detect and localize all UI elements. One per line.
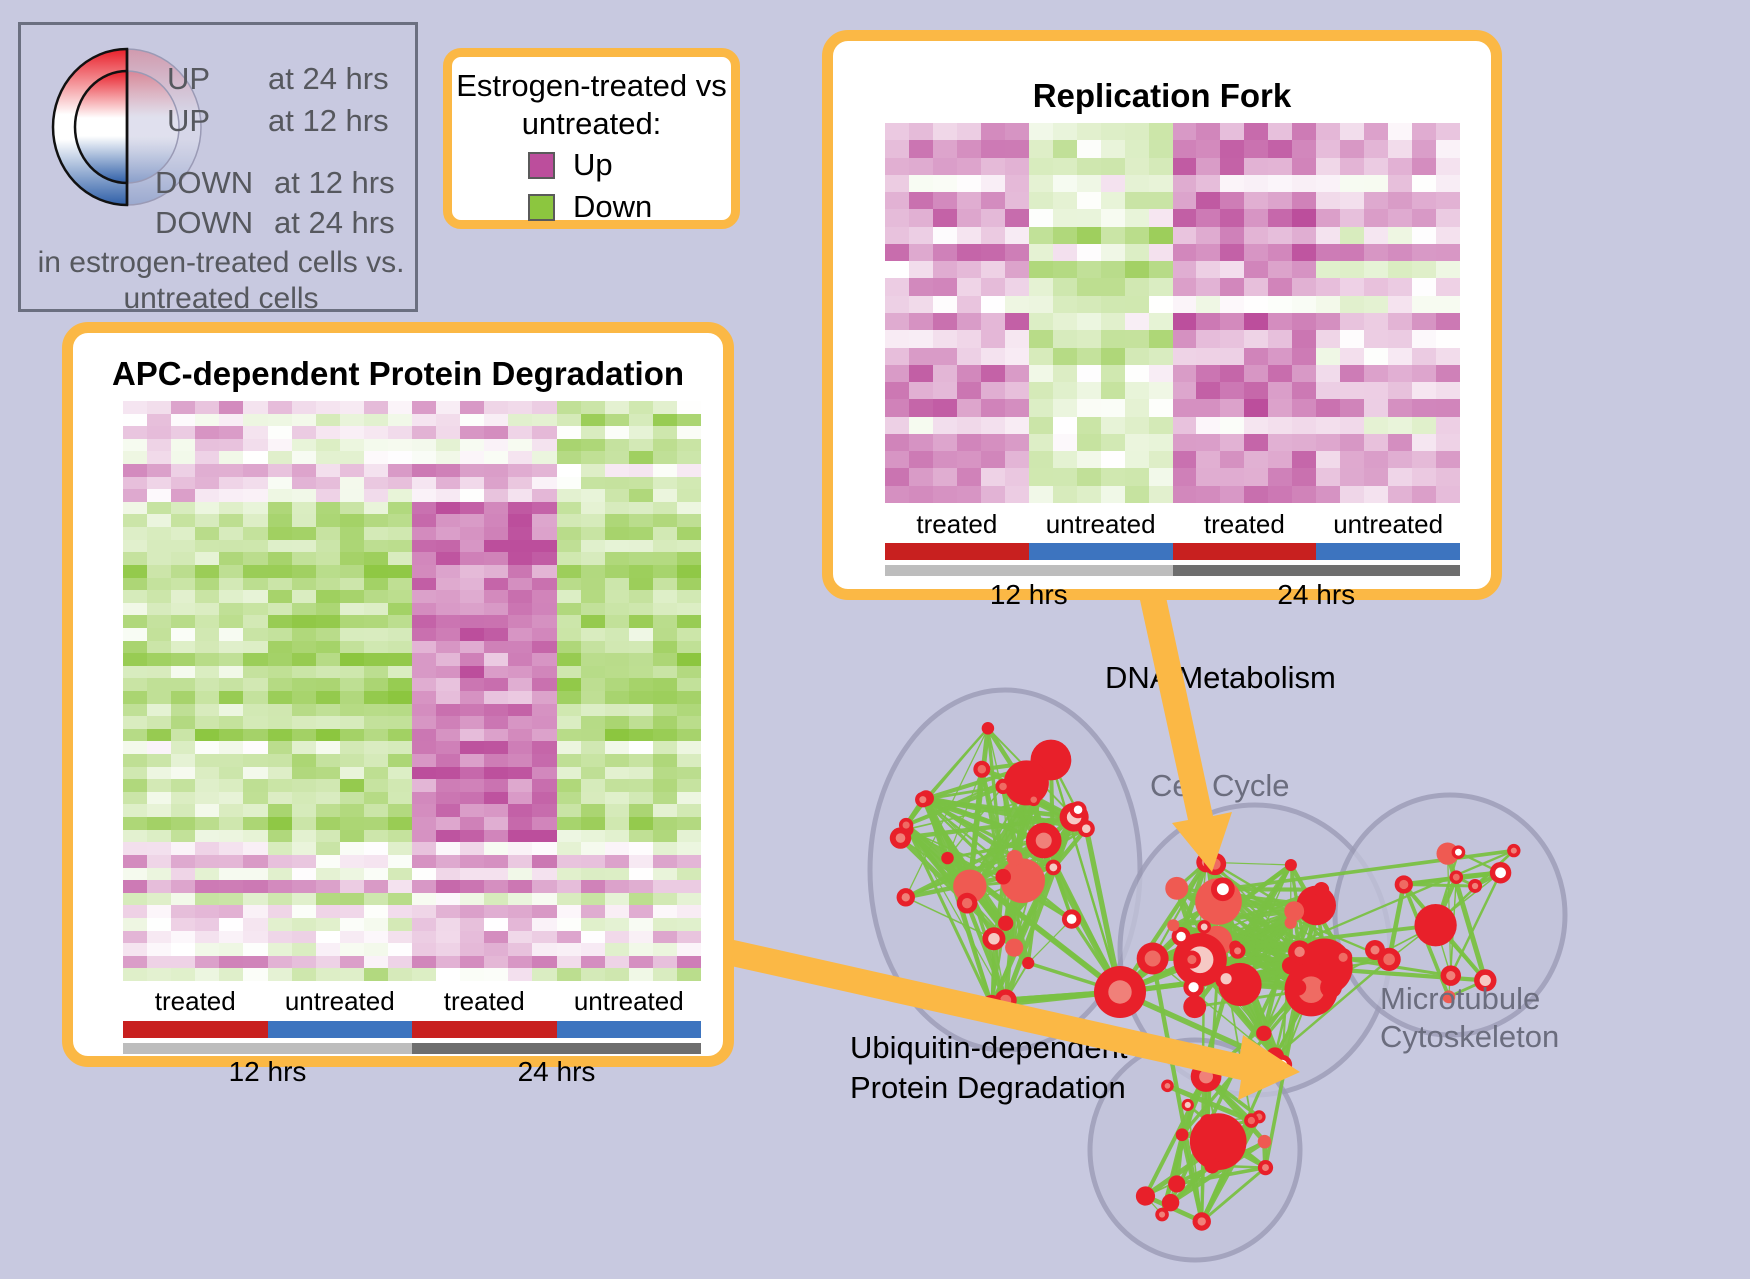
heatmap-cell <box>1149 417 1173 434</box>
heatmap-cell <box>1388 434 1412 451</box>
heatmap-cell <box>171 464 195 477</box>
heatmap-cell <box>1316 382 1340 399</box>
heatmap-cell <box>171 653 195 666</box>
heatmap-cell <box>1220 158 1244 175</box>
heatmap-cell <box>933 451 957 468</box>
heatmap-cell <box>885 123 909 140</box>
heatmap-cell <box>629 451 653 464</box>
heatmap-cell <box>557 653 581 666</box>
heatmap-cell <box>1388 244 1412 261</box>
heatmap-cell <box>1412 451 1436 468</box>
heatmap-cell <box>364 754 388 767</box>
timepoint-label: 24 hrs <box>1173 579 1461 611</box>
heatmap-cell <box>195 641 219 654</box>
heatmap-cell <box>171 691 195 704</box>
heatmap-cell <box>933 486 957 503</box>
heatmap-cell <box>436 628 460 641</box>
heatmap-cell <box>388 855 412 868</box>
heatmap-cell <box>933 468 957 485</box>
heatmap-cell <box>933 175 957 192</box>
heatmap-cell <box>1340 417 1364 434</box>
heatmap-cell <box>653 868 677 881</box>
heatmap-cell <box>219 489 243 502</box>
heatmap-cell <box>195 918 219 931</box>
heatmap-cell <box>909 278 933 295</box>
heatmap-cell <box>933 278 957 295</box>
heatmap-cell <box>292 855 316 868</box>
heatmap-cell <box>1149 382 1173 399</box>
heatmap-cell <box>1173 192 1197 209</box>
heatmap-cell <box>957 192 981 209</box>
heatmap-cell <box>484 540 508 553</box>
heatmap-cell <box>340 830 364 843</box>
heatmap-cell <box>292 653 316 666</box>
heatmap-cell <box>1220 468 1244 485</box>
heatmap-cell <box>460 716 484 729</box>
heatmap-cell <box>171 779 195 792</box>
heatmap-cell <box>933 192 957 209</box>
heatmap-cell <box>1101 209 1125 226</box>
heatmap-cell <box>581 943 605 956</box>
heatmap-cell <box>532 414 556 427</box>
heatmap-cell <box>219 615 243 628</box>
heatmap-cell <box>195 401 219 414</box>
heatmap-cell <box>364 514 388 527</box>
heatmap-cell <box>557 514 581 527</box>
heatmap-cell <box>653 414 677 427</box>
heatmap-cell <box>1316 227 1340 244</box>
heatmap-cell <box>885 434 909 451</box>
heatmap-cell <box>316 754 340 767</box>
heatmap-cell <box>957 468 981 485</box>
heatmap-cell <box>532 956 556 969</box>
heatmap-cell <box>605 792 629 805</box>
heatmap-cell <box>629 477 653 490</box>
heatmap-cell <box>605 754 629 767</box>
heatmap-cell <box>123 729 147 742</box>
heatmap-cell <box>364 439 388 452</box>
heatmap-cell <box>1340 227 1364 244</box>
heatmap-cell <box>292 741 316 754</box>
heatmap-cell <box>557 943 581 956</box>
heatmap-cell <box>171 578 195 591</box>
heatmap-cell <box>653 451 677 464</box>
heatmap-cell <box>581 401 605 414</box>
heatmap-cell <box>605 741 629 754</box>
heatmap-cell <box>933 399 957 416</box>
heatmap-cell <box>581 968 605 981</box>
heatmap-cell <box>123 931 147 944</box>
heatmap-cell <box>195 880 219 893</box>
heatmap-cell <box>532 451 556 464</box>
heatmap-cell <box>147 704 171 717</box>
heatmap-cell <box>1292 192 1316 209</box>
heatmap-cell <box>981 192 1005 209</box>
heatmap-cell <box>412 439 436 452</box>
heatmap-cell <box>460 527 484 540</box>
heatmap-cell <box>171 678 195 691</box>
heatmap-cell <box>557 527 581 540</box>
heatmap-cell <box>195 767 219 780</box>
heatmap-cell <box>1053 158 1077 175</box>
heatmap-cell <box>219 704 243 717</box>
heatmap-cell <box>1292 158 1316 175</box>
heatmap-cell <box>484 817 508 830</box>
heatmap-cell <box>1220 175 1244 192</box>
heatmap-cell <box>388 451 412 464</box>
heatmap-cell <box>677 451 701 464</box>
heatmap-cell <box>219 817 243 830</box>
heatmap-cell <box>532 741 556 754</box>
heatmap-cell <box>1316 434 1340 451</box>
heatmap-cell <box>885 227 909 244</box>
heatmap-cell <box>1029 123 1053 140</box>
heatmap-cell <box>581 931 605 944</box>
heatmap-cell <box>532 868 556 881</box>
heatmap-cell <box>1268 175 1292 192</box>
heatmap-cell <box>340 590 364 603</box>
heatmap-cell <box>316 401 340 414</box>
heatmap-cell <box>243 603 267 616</box>
heatmap-cell <box>557 767 581 780</box>
heatmap-cell <box>340 666 364 679</box>
heatmap-cell <box>1268 330 1292 347</box>
heatmap-cell <box>629 426 653 439</box>
heatmap-cell <box>557 905 581 918</box>
heatmap-cell <box>653 666 677 679</box>
heatmap-cell <box>364 401 388 414</box>
heatmap-cell <box>1292 434 1316 451</box>
heatmap-cell <box>484 527 508 540</box>
heatmap-cell <box>388 401 412 414</box>
heatmap-cell <box>1173 227 1197 244</box>
heatmap-cell <box>316 426 340 439</box>
heatmap-cell <box>1316 261 1340 278</box>
heatmap-cell <box>933 365 957 382</box>
heatmap-cell <box>364 527 388 540</box>
heatmap-cell <box>508 439 532 452</box>
heatmap-cell <box>1292 348 1316 365</box>
heatmap-cell <box>243 868 267 881</box>
heatmap-cell <box>364 716 388 729</box>
heatmap-cell <box>292 716 316 729</box>
heatmap-cell <box>1220 434 1244 451</box>
heatmap-cell <box>653 956 677 969</box>
heatmap-cell <box>436 590 460 603</box>
heatmap-cell <box>1316 123 1340 140</box>
heatmap-cell <box>1268 261 1292 278</box>
heatmap-cell <box>460 943 484 956</box>
heatmap-cell <box>460 893 484 906</box>
heatmap-cell <box>219 741 243 754</box>
heatmap-cell <box>557 678 581 691</box>
heatmap-cell <box>557 426 581 439</box>
heatmap-cell <box>653 603 677 616</box>
heatmap-cell <box>557 830 581 843</box>
heatmap-cell <box>1029 468 1053 485</box>
heatmap-cell <box>388 842 412 855</box>
heatmap-cell <box>340 956 364 969</box>
heatmap-cell <box>268 691 292 704</box>
heatmap-cell <box>147 628 171 641</box>
heatmap-cell <box>957 261 981 278</box>
heatmap-cell <box>316 943 340 956</box>
heatmap-cell <box>1077 158 1101 175</box>
heatmap-cell <box>677 868 701 881</box>
heatmap-cell <box>171 565 195 578</box>
heatmap-cell <box>1005 209 1029 226</box>
heatmap-cell <box>147 502 171 515</box>
heatmap-cell <box>436 729 460 742</box>
heatmap-cell <box>195 666 219 679</box>
heatmap-cell <box>171 792 195 805</box>
heatmap-cell <box>340 716 364 729</box>
heatmap-cell <box>957 140 981 157</box>
heatmap-cell <box>1412 140 1436 157</box>
heatmap-cell <box>243 792 267 805</box>
heatmap-cell <box>1005 158 1029 175</box>
heatmap-cell <box>557 779 581 792</box>
heatmap-cell <box>123 653 147 666</box>
heatmap-cell <box>1101 158 1125 175</box>
heatmap-cell <box>677 880 701 893</box>
heatmap-cell <box>123 426 147 439</box>
heatmap-cell <box>532 439 556 452</box>
heatmap-cell <box>1436 261 1460 278</box>
heatmap-cell <box>532 830 556 843</box>
heatmap-cell <box>629 540 653 553</box>
heatmap-cell <box>1196 486 1220 503</box>
heatmap-cell <box>460 489 484 502</box>
heatmap-cell <box>195 691 219 704</box>
timepoint-color-segment <box>885 565 1173 576</box>
heatmap-cell <box>1436 434 1460 451</box>
heatmap-cell <box>909 417 933 434</box>
heatmap-cell <box>957 158 981 175</box>
heatmap-cell <box>1029 244 1053 261</box>
heatmap-cell <box>532 477 556 490</box>
heatmap-cell <box>316 767 340 780</box>
heatmap-cell <box>388 905 412 918</box>
heatmap-cell <box>677 704 701 717</box>
heatmap-cell <box>1053 365 1077 382</box>
heatmap-cell <box>508 615 532 628</box>
heatmap-cell <box>653 704 677 717</box>
heatmap-cell <box>1388 451 1412 468</box>
heatmap-cell <box>484 767 508 780</box>
heatmap-cell <box>532 603 556 616</box>
heatmap-cell <box>388 804 412 817</box>
heatmap-cell <box>1149 278 1173 295</box>
heatmap-cell <box>605 817 629 830</box>
heatmap-cell <box>1244 123 1268 140</box>
heatmap-cell <box>653 804 677 817</box>
heatmap-cell <box>171 716 195 729</box>
heatmap-cell <box>1340 278 1364 295</box>
heatmap-cell <box>364 552 388 565</box>
heatmap-cell <box>292 968 316 981</box>
heatmap-cell <box>508 943 532 956</box>
condition-color-segment <box>1316 543 1460 560</box>
heatmap-cell <box>1053 192 1077 209</box>
heatmap-cell <box>629 401 653 414</box>
heatmap-cell <box>1149 451 1173 468</box>
heatmap-cell <box>557 968 581 981</box>
heatmap-cell <box>508 451 532 464</box>
heatmap-cell <box>243 514 267 527</box>
heatmap-cell <box>123 905 147 918</box>
heatmap-cell <box>1364 434 1388 451</box>
heatmap-cell <box>340 615 364 628</box>
heatmap-cell <box>933 348 957 365</box>
heatmap-cell <box>412 489 436 502</box>
heatmap-cell <box>1196 348 1220 365</box>
heatmap-cell <box>1388 209 1412 226</box>
heatmap-cell <box>147 741 171 754</box>
heatmap-cell <box>677 716 701 729</box>
heatmap-cell <box>1436 348 1460 365</box>
heatmap-cell <box>388 968 412 981</box>
heatmap-cell <box>1292 261 1316 278</box>
heatmap-cell <box>460 968 484 981</box>
heatmap-cell <box>147 653 171 666</box>
heatmap-cell <box>219 842 243 855</box>
heatmap-cell <box>412 817 436 830</box>
heatmap-cell <box>1364 486 1388 503</box>
heatmap-cell <box>532 615 556 628</box>
heatmap-cell <box>1149 348 1173 365</box>
heatmap-cell <box>316 540 340 553</box>
heatmap-cell <box>1268 158 1292 175</box>
heatmap-cell <box>557 868 581 881</box>
heatmap-cell <box>195 905 219 918</box>
heatmap-cell <box>1268 192 1292 209</box>
heatmap-cell <box>412 779 436 792</box>
heatmap-cell <box>981 365 1005 382</box>
heatmap-cell <box>508 678 532 691</box>
heatmap-cell <box>1268 227 1292 244</box>
heatmap-cell <box>1173 123 1197 140</box>
heatmap-cell <box>219 691 243 704</box>
heatmap-cell <box>364 451 388 464</box>
heatmap-cell <box>292 893 316 906</box>
heatmap-cell <box>171 830 195 843</box>
heatmap-cell <box>1053 209 1077 226</box>
cluster-label-ubiquitin-degradation: Ubiquitin-dependent Protein Degradation <box>850 1028 1128 1108</box>
heatmap-cell <box>532 943 556 956</box>
heatmap-cell <box>885 158 909 175</box>
heatmap-cell <box>1005 486 1029 503</box>
heatmap-cell <box>243 893 267 906</box>
heatmap-cell <box>484 439 508 452</box>
heatmap-cell <box>1220 399 1244 416</box>
heatmap-cell <box>171 477 195 490</box>
legend-down-at-24-label: at 24 hrs <box>274 205 395 241</box>
condition-label: treated <box>123 986 268 1017</box>
heatmap-cell <box>933 209 957 226</box>
heatmap-cell <box>219 754 243 767</box>
heatmap-cell <box>508 514 532 527</box>
heatmap-cell <box>1220 417 1244 434</box>
heatmap-cell <box>981 140 1005 157</box>
heatmap-cell <box>605 590 629 603</box>
heatmap-cell <box>484 615 508 628</box>
heatmap-cell <box>460 880 484 893</box>
heatmap-cell <box>1244 417 1268 434</box>
heatmap-cell <box>243 502 267 515</box>
heatmap-cell <box>605 804 629 817</box>
heatmap-cell <box>981 244 1005 261</box>
heatmap-cell <box>340 489 364 502</box>
heatmap-cell <box>1196 158 1220 175</box>
heatmap-cell <box>171 855 195 868</box>
heatmap-cell <box>1412 158 1436 175</box>
heatmap-cell <box>1053 382 1077 399</box>
heatmap-cell <box>340 779 364 792</box>
heatmap-cell <box>581 666 605 679</box>
heatmap-cell <box>412 880 436 893</box>
heatmap-cell <box>508 401 532 414</box>
heatmap-cell <box>412 477 436 490</box>
heatmap-cell <box>677 691 701 704</box>
heatmap-cell <box>292 477 316 490</box>
heatmap-cell <box>1005 192 1029 209</box>
heatmap-cell <box>316 678 340 691</box>
heatmap-cell <box>460 767 484 780</box>
heatmap-cell <box>629 464 653 477</box>
heatmap-cell <box>1412 227 1436 244</box>
panel-title-replication-fork: Replication Fork <box>833 77 1491 115</box>
heatmap-cell <box>1196 175 1220 192</box>
heatmap-cell <box>436 931 460 944</box>
condition-color-segment <box>1173 543 1317 560</box>
heatmap-cell <box>605 514 629 527</box>
heatmap-cell <box>629 615 653 628</box>
heatmap-cell <box>557 918 581 931</box>
heatmap-cell <box>581 552 605 565</box>
heatmap-cell <box>981 175 1005 192</box>
heatmap-cell <box>1173 348 1197 365</box>
heatmap-cell <box>340 741 364 754</box>
heatmap-cell <box>1149 158 1173 175</box>
heatmap-cell <box>629 691 653 704</box>
heatmap-cell <box>653 641 677 654</box>
heatmap-cell <box>1125 348 1149 365</box>
heatmap-cell <box>316 464 340 477</box>
heatmap-cell <box>508 477 532 490</box>
heatmap-cell <box>316 880 340 893</box>
heatmap-cell <box>243 426 267 439</box>
heatmap-cell <box>484 918 508 931</box>
heatmap-cell <box>1053 486 1077 503</box>
heatmap-cell <box>316 931 340 944</box>
heatmap-cell <box>1053 140 1077 157</box>
heatmap-cell <box>388 868 412 881</box>
panel-replication-fork: Replication Fork treateduntreatedtreated… <box>822 30 1502 600</box>
heatmap-cell <box>316 918 340 931</box>
heatmap-cell <box>147 868 171 881</box>
heatmap-cell <box>195 893 219 906</box>
heatmap-cell <box>292 678 316 691</box>
heatmap-cell <box>629 439 653 452</box>
heatmap-cell <box>268 653 292 666</box>
cluster-label-microtubule-cytoskeleton: Microtubule Cytoskeleton <box>1380 980 1559 1056</box>
heatmap-cell <box>1388 313 1412 330</box>
heatmap-cell <box>123 641 147 654</box>
heatmap-cell <box>123 477 147 490</box>
heatmap-cell <box>909 382 933 399</box>
heatmap-cell <box>268 855 292 868</box>
